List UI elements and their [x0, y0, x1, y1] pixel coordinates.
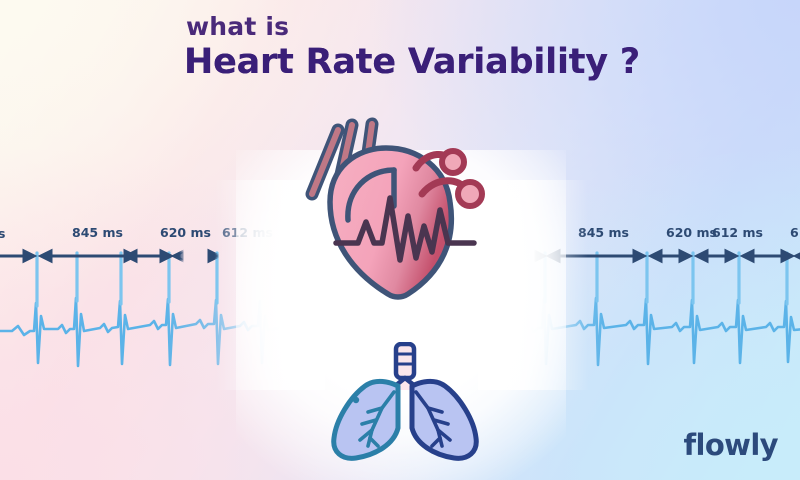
kicker-text: what is: [186, 14, 640, 40]
ecg-waveform-left: [0, 298, 300, 366]
ecg-label-left-1: 845 ms: [72, 225, 123, 240]
aorta-opening-bottom: [458, 182, 482, 206]
trachea: [396, 344, 414, 378]
ecg-label-right-3: 6: [790, 225, 799, 240]
lung-dot: [353, 397, 359, 403]
lung-left-lobe: [334, 381, 398, 458]
aorta-opening-top: [442, 151, 464, 173]
ecg-label-left-3: 612 ms: [222, 225, 273, 240]
lungs-icon: [320, 342, 490, 462]
ecg-label-right-2: 612 ms: [712, 225, 763, 240]
anatomy-illustration: [290, 110, 520, 460]
ecg-label-right-1: 620 ms: [666, 225, 717, 240]
ecg-strip-left: [0, 198, 300, 368]
ecg-strip-right: [520, 198, 800, 368]
title-block: what is Heart Rate Variability ?: [184, 14, 640, 81]
page-title: Heart Rate Variability ?: [184, 44, 640, 81]
brand-logo: flowly: [683, 428, 778, 462]
heart-icon: [290, 110, 520, 310]
ecg-label-left-2: 620 ms: [160, 225, 211, 240]
ecg-interval-arrows-left: [0, 251, 219, 261]
ecg-label-right-0: 845 ms: [578, 225, 629, 240]
ecg-interval-arrows-right: [520, 251, 800, 261]
ecg-label-left-0: s: [0, 226, 5, 241]
lung-right-lobe: [412, 381, 476, 458]
ecg-waveform-right: [520, 298, 800, 365]
infographic-canvas: s 845 ms 620 ms 612 ms: [0, 0, 800, 480]
